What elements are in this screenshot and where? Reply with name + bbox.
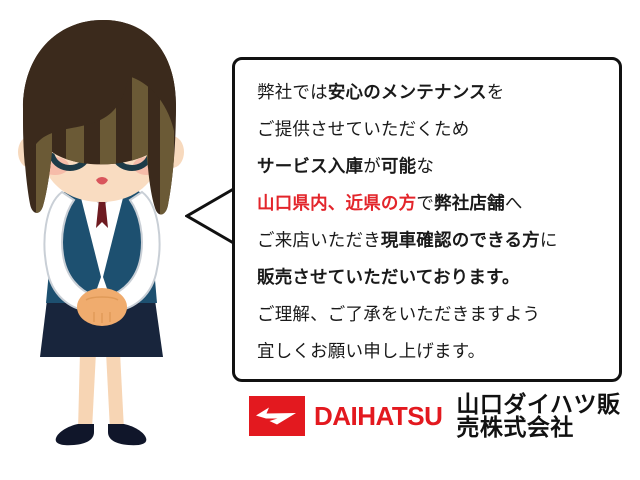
daihatsu-logo-row: DAIHATSU 山口ダイハツ販売株式会社 [249, 393, 640, 439]
line-3-seg-3: 可能 [381, 156, 416, 176]
line-3-seg-2: が [363, 156, 381, 176]
message-line-2: ご提供させていただくため [257, 111, 605, 148]
shoes [56, 424, 147, 445]
line-3-seg-4: な [416, 156, 434, 176]
line-2-seg-1: ご提供させていただくため [257, 119, 469, 139]
legs [78, 352, 124, 430]
line-7-seg-1: ご理解、ご了承をいただきますよう [257, 304, 540, 324]
clasped-hands [77, 288, 127, 326]
line-4-seg-3: 弊社店舗 [434, 193, 505, 213]
line-1-seg-3: を [487, 82, 505, 102]
line-4-seg-2: で [416, 193, 434, 213]
message-line-4: 山口県内、近県の方で弊社店舗へ [257, 185, 605, 222]
line-5-seg-1: ご来店いただき [257, 230, 381, 250]
line-5-seg-3: に [540, 230, 558, 250]
message-line-6: 販売させていただいております。 [257, 259, 605, 296]
advertisement-banner: 弊社では安心のメンテナンスを ご提供させていただくため サービス入庫が可能な 山… [0, 0, 640, 480]
speech-bubble: 弊社では安心のメンテナンスを ご提供させていただくため サービス入庫が可能な 山… [232, 57, 622, 382]
message-line-7: ご理解、ご了承をいただきますよう [257, 296, 605, 333]
line-8-seg-1: 宜しくお願い申し上げます。 [257, 341, 485, 361]
businesswoman-svg [0, 0, 210, 480]
message-line-3: サービス入庫が可能な [257, 148, 605, 185]
line-1-seg-1: 弊社では [257, 82, 328, 102]
bowing-businesswoman-illustration [0, 0, 210, 480]
message-line-1: 弊社では安心のメンテナンスを [257, 74, 605, 111]
line-5-seg-2: 現車確認のできる方 [381, 230, 540, 250]
line-4-seg-1-highlight: 山口県内、近県の方 [257, 193, 416, 213]
bubble-message: 弊社では安心のメンテナンスを ご提供させていただくため サービス入庫が可能な 山… [257, 74, 605, 370]
line-4-seg-4: へ [505, 193, 523, 213]
line-3-seg-1: サービス入庫 [257, 156, 363, 176]
line-6-seg-1: 販売させていただいております。 [257, 267, 520, 287]
message-line-5: ご来店いただき現車確認のできる方に [257, 222, 605, 259]
company-name: 山口ダイハツ販売株式会社 [456, 393, 640, 439]
daihatsu-d-mark-icon [249, 396, 305, 436]
line-1-seg-2: 安心のメンテナンス [328, 82, 487, 102]
message-line-8: 宜しくお願い申し上げます。 [257, 333, 605, 370]
daihatsu-wordmark: DAIHATSU [314, 403, 442, 429]
